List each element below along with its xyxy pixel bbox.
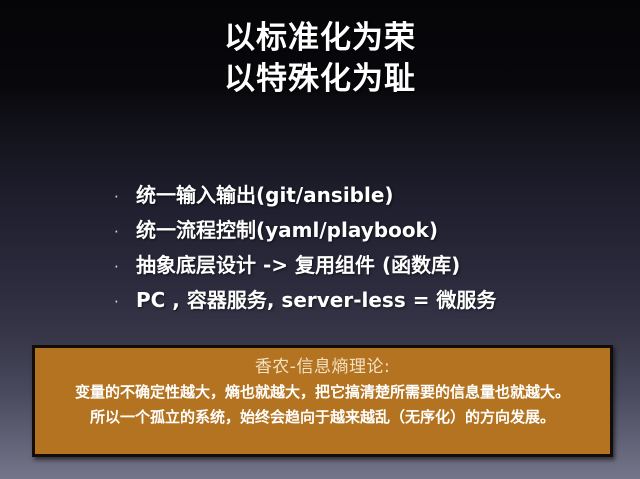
list-item: · 统一输入输出(git/ansible) <box>114 178 614 213</box>
bullet-dot-icon: · <box>114 180 136 215</box>
bullet-dot-icon: · <box>114 250 136 285</box>
bullet-dot-icon: · <box>114 215 136 250</box>
bullet-dot-icon: · <box>114 285 136 320</box>
slide-canvas: 以标准化为荣 以特殊化为耻 · 统一输入输出(git/ansible) · 统一… <box>0 0 640 479</box>
slide-title: 以标准化为荣 以特殊化为耻 <box>0 18 640 100</box>
callout-title: 香农-信息熵理论: <box>35 354 610 380</box>
bullet-label-3: 抽象底层设计 -> 复用组件 (函数库) <box>136 248 460 283</box>
callout-box: 香农-信息熵理论: 变量的不确定性越大，熵也就越大，把它搞清楚所需要的信息量也就… <box>32 345 613 457</box>
list-item: · 统一流程控制(yaml/playbook) <box>114 213 614 248</box>
bullet-label-1: 统一输入输出(git/ansible) <box>136 178 394 213</box>
list-item: · 抽象底层设计 -> 复用组件 (函数库) <box>114 248 614 283</box>
callout-line-2: 所以一个孤立的系统，始终会趋向于越来越乱（无序化）的方向发展。 <box>35 405 610 430</box>
callout-line-1: 变量的不确定性越大，熵也就越大，把它搞清楚所需要的信息量也就越大。 <box>35 380 610 405</box>
bullet-list: · 统一输入输出(git/ansible) · 统一流程控制(yaml/play… <box>114 178 614 318</box>
bullet-label-4: PC , 容器服务, server-less = 微服务 <box>136 283 496 318</box>
bullet-label-2: 统一流程控制(yaml/playbook) <box>136 213 438 248</box>
list-item: · PC , 容器服务, server-less = 微服务 <box>114 283 614 318</box>
title-line-2: 以特殊化为耻 <box>0 59 640 100</box>
title-line-1: 以标准化为荣 <box>0 18 640 59</box>
